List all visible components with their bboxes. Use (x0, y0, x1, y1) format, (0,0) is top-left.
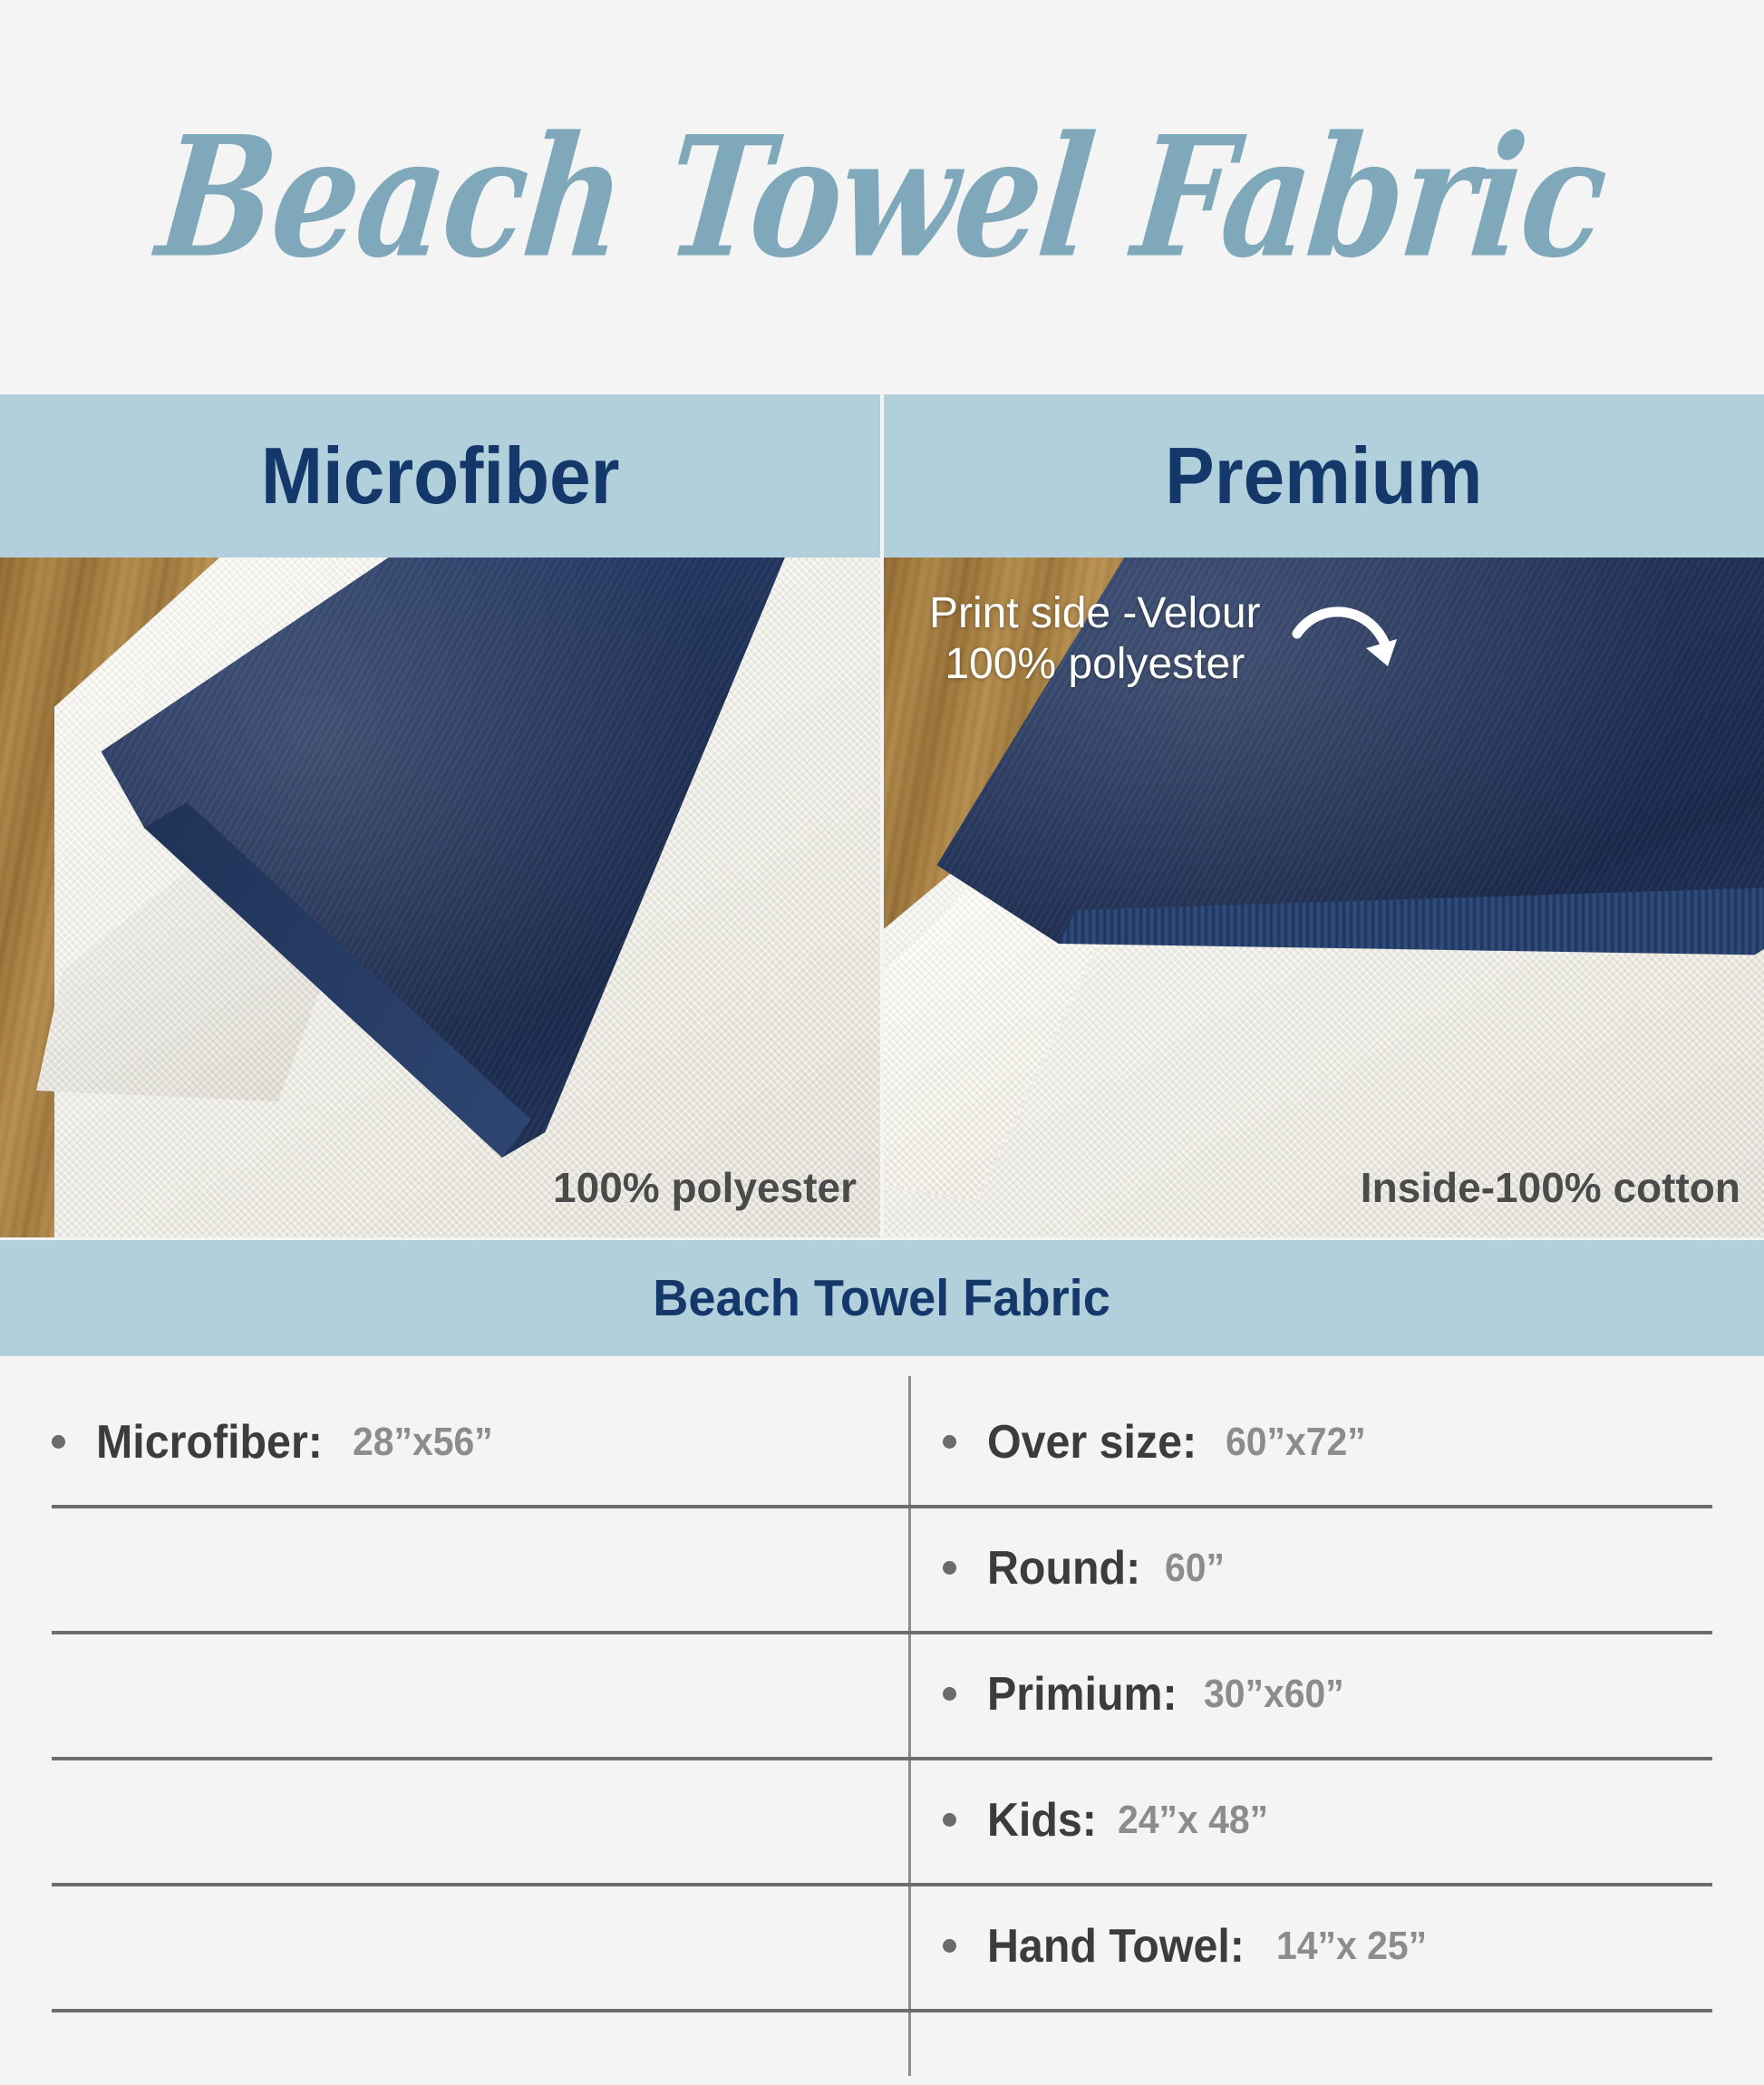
spec-table: Microfiber: 28”x56” Over size: 60”x72” R… (0, 1356, 1764, 2085)
list-item: Microfiber: 28”x56” (52, 1379, 895, 1505)
spec-value: 14”x 25” (1276, 1924, 1427, 1969)
list-item: Hand Towel: 14”x 25” (943, 1883, 1740, 2009)
page-title: Beach Towel Fabric (151, 114, 1612, 280)
infographic-page: Beach Towel Fabric Microfiber 100% polye… (0, 0, 1764, 2085)
section-band-title: Beach Towel Fabric (654, 1268, 1111, 1328)
list-item: Kids: 24”x 48” (943, 1757, 1740, 1883)
overlay-note-line-2: 100% polyester (929, 639, 1261, 690)
photo-caption-premium: Inside-100% cotton (1361, 1163, 1740, 1212)
spec-value: 60”x72” (1226, 1420, 1366, 1465)
spec-label: Hand Towel: (987, 1919, 1245, 1973)
spec-label: Round: (987, 1541, 1140, 1595)
column-divider (908, 1376, 911, 2076)
bullet-icon (943, 1435, 956, 1449)
spec-value: 60” (1165, 1546, 1225, 1591)
panel-microfiber: Microfiber 100% polyester (0, 394, 880, 1237)
panel-heading-microfiber: Microfiber (261, 436, 620, 516)
spec-value: 24”x 48” (1118, 1798, 1268, 1843)
page-title-container: Beach Towel Fabric (0, 0, 1764, 394)
photo-caption-microfiber: 100% polyester (553, 1163, 857, 1212)
section-band: Beach Towel Fabric (0, 1240, 1764, 1356)
spec-label: Primium: (987, 1667, 1178, 1721)
photo-microfiber: 100% polyester (0, 558, 880, 1237)
panel-heading-premium: Premium (1165, 436, 1482, 516)
list-item: Over size: 60”x72” (943, 1379, 1740, 1505)
list-item: Round: 60” (943, 1505, 1740, 1631)
bullet-icon (943, 1813, 956, 1827)
comparison-panels: Microfiber 100% polyester Premium (0, 394, 1764, 1237)
row-divider (52, 2009, 1712, 2012)
photo-premium: Print side -Velour 100% polyester Inside… (884, 558, 1764, 1237)
overlay-note-line-1: Print side -Velour (929, 588, 1261, 639)
list-item: Primium: 30”x60” (943, 1631, 1740, 1757)
bullet-icon (52, 1435, 65, 1449)
bullet-icon (943, 1561, 956, 1575)
spec-value: 28”x56” (353, 1420, 493, 1465)
curved-arrow-down-right-icon (1292, 596, 1410, 695)
panel-heading-microfiber-band: Microfiber (0, 394, 880, 558)
spec-label: Over size: (987, 1415, 1197, 1469)
spec-label: Microfiber: (96, 1415, 323, 1469)
bullet-icon (943, 1939, 956, 1953)
panel-heading-premium-band: Premium (884, 394, 1764, 558)
spec-label: Kids: (987, 1793, 1097, 1847)
overlay-note-print-side: Print side -Velour 100% polyester (929, 588, 1261, 689)
bullet-icon (943, 1687, 956, 1701)
spec-value: 30”x60” (1204, 1672, 1344, 1717)
panel-premium: Premium Print side -Velour 100% polyeste… (884, 394, 1764, 1237)
